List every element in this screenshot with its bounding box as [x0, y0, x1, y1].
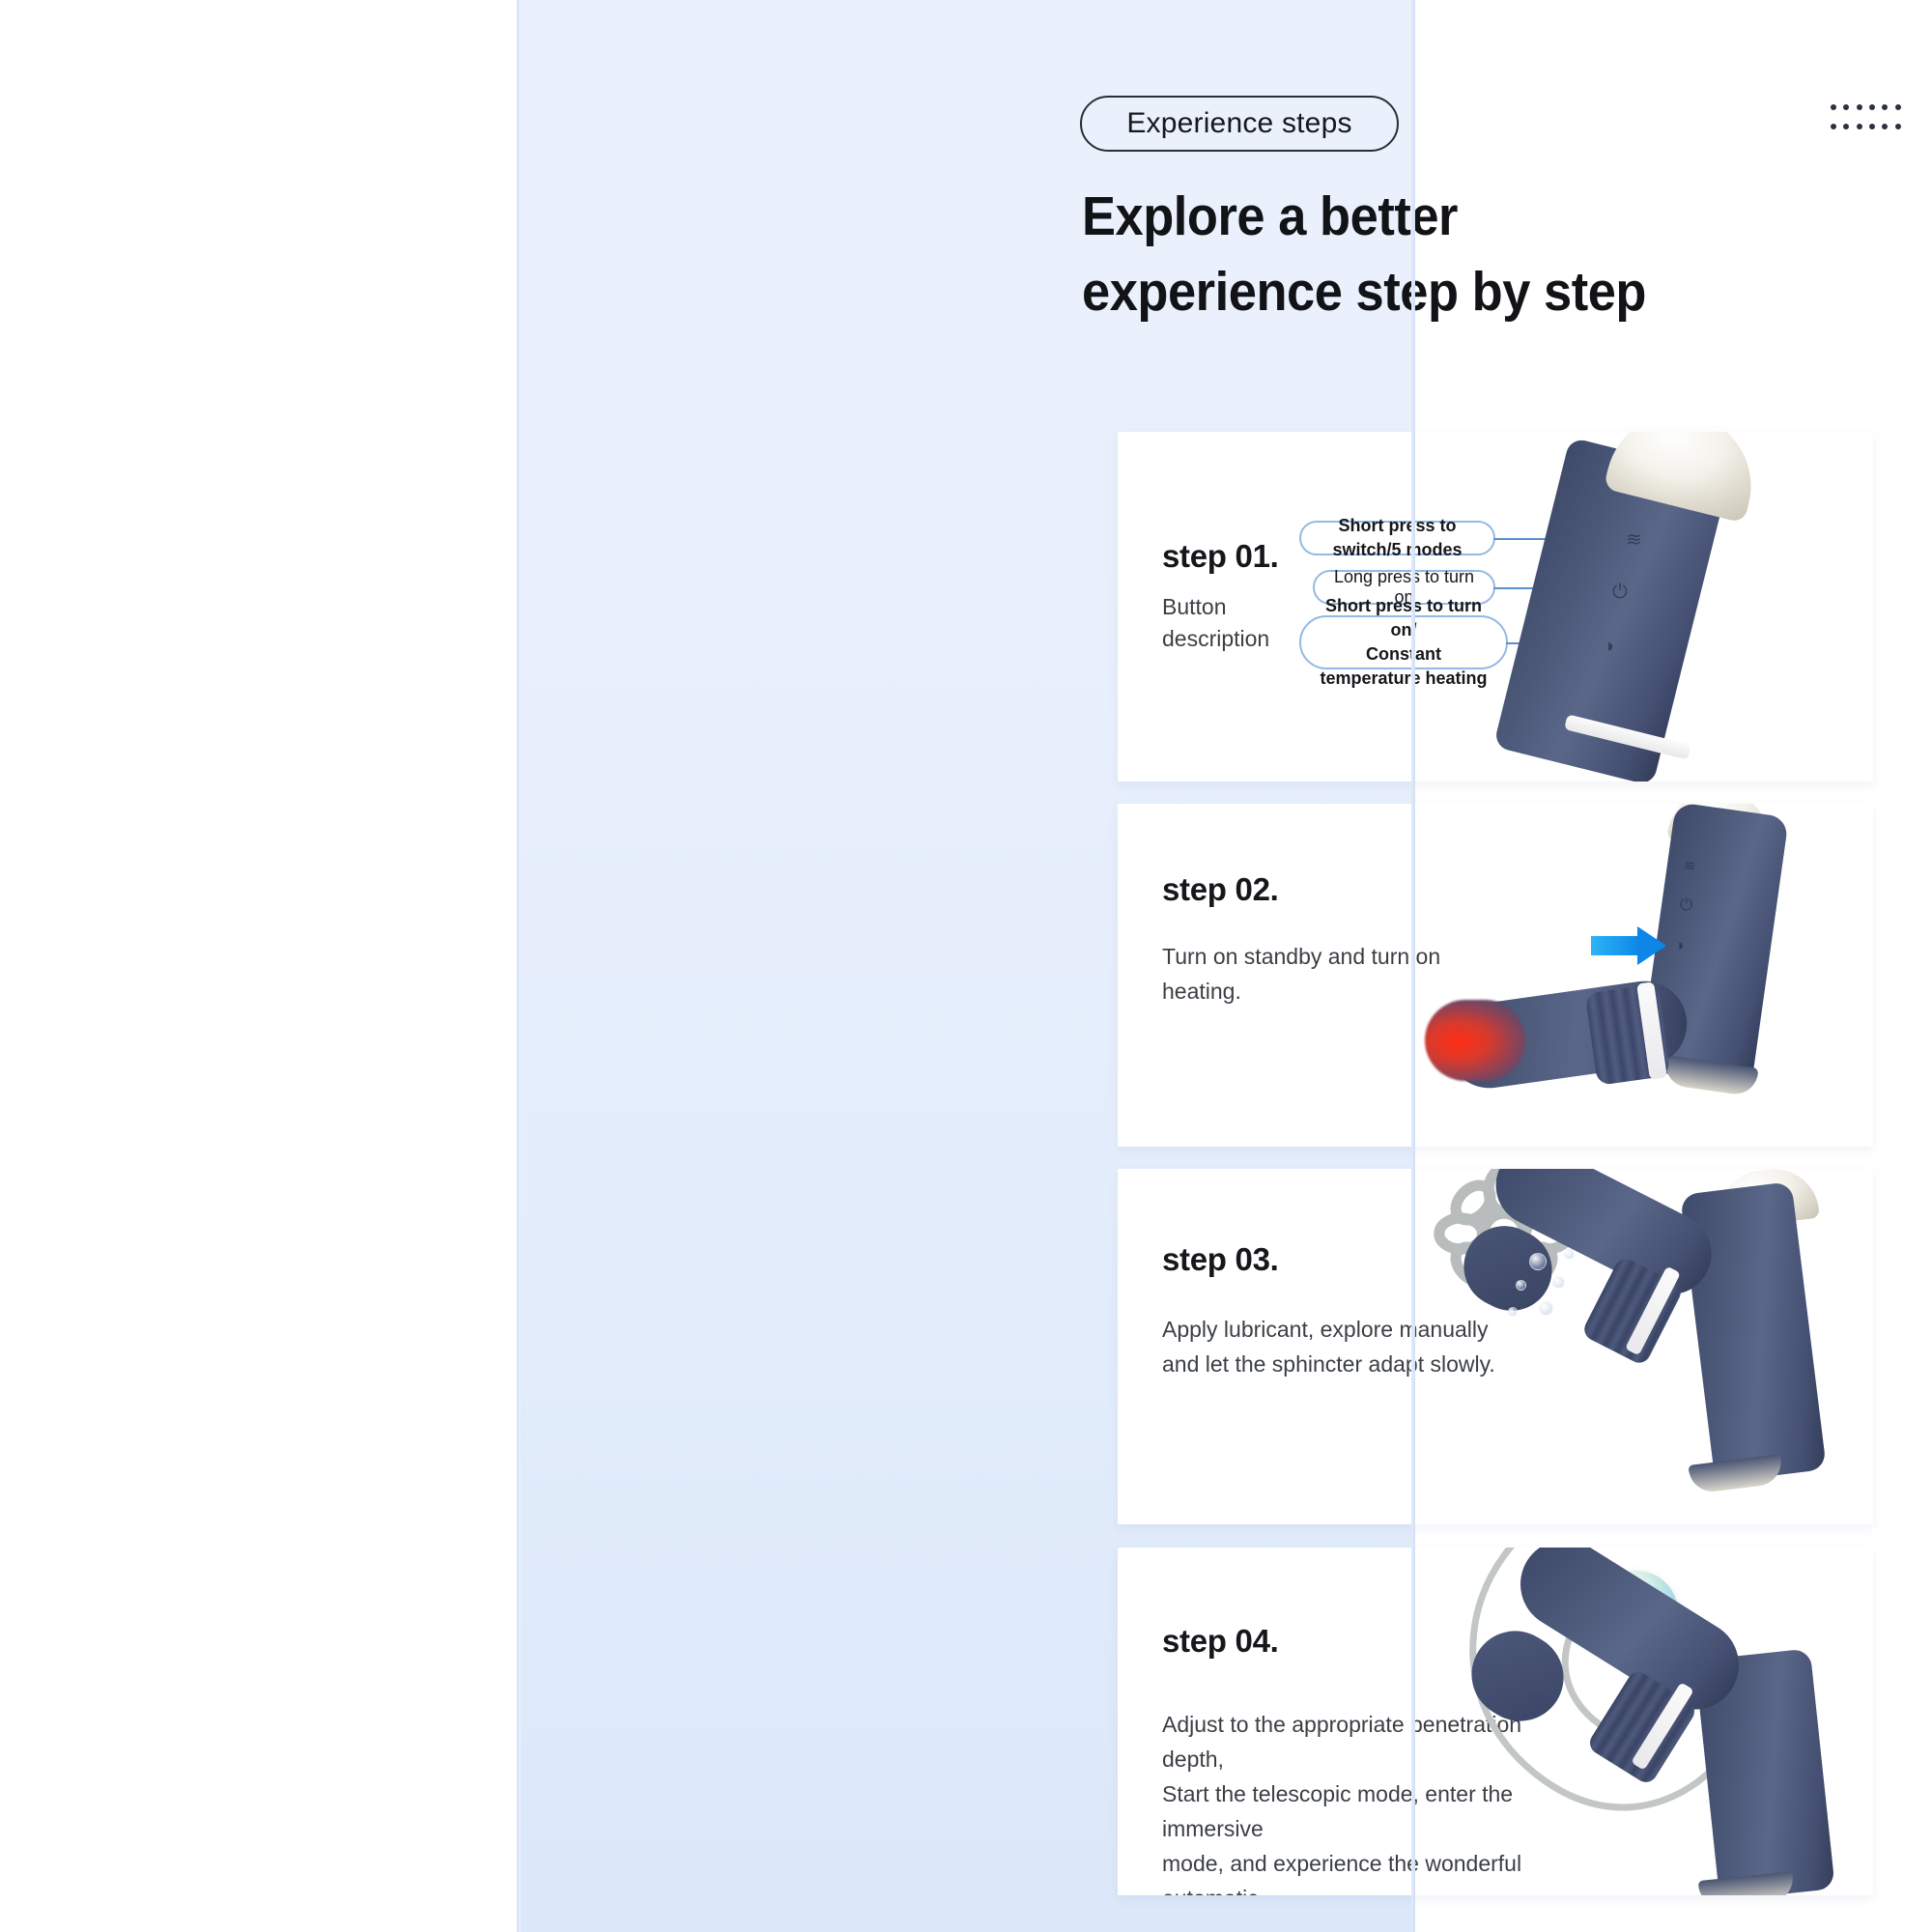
- water-droplet-icon: [1564, 1249, 1575, 1260]
- dot-grid-icon: [1831, 104, 1908, 129]
- step-title: step 04.: [1162, 1623, 1279, 1660]
- step-card-02: step 02. Turn on standby and turn on hea…: [1118, 804, 1873, 1147]
- headline-line-2: experience step by step: [1082, 254, 1793, 329]
- vibration-waves-icon: ≋: [1684, 857, 1696, 876]
- headline-line-1: Explore a better: [1082, 179, 1793, 254]
- experience-steps-badge: Experience steps: [1080, 96, 1399, 152]
- callout-heating: Short press to turn on/ Constant tempera…: [1299, 615, 1508, 669]
- step-subtitle-line-2: description: [1162, 623, 1269, 655]
- power-icon: ⏻: [1680, 895, 1692, 915]
- callout-mode: Short press to switch/5 modes: [1299, 521, 1495, 555]
- step-subtitle: Button description: [1162, 591, 1269, 655]
- water-droplet-icon: [1516, 1280, 1526, 1291]
- product-image-step-04: [1398, 1548, 1852, 1895]
- callout-text-line-2: Constant temperature heating: [1317, 642, 1491, 691]
- badge-label: Experience steps: [1126, 107, 1351, 140]
- water-droplet-icon: [1529, 1253, 1547, 1270]
- step-title: step 01.: [1162, 538, 1279, 575]
- vibration-waves-icon: ≋: [1626, 530, 1642, 550]
- page-left-edge: [517, 0, 521, 1932]
- blue-arrow-icon: [1591, 926, 1668, 965]
- product-image-step-03: [1407, 1169, 1852, 1524]
- step-title: step 02.: [1162, 871, 1279, 908]
- product-image-step-02: ≋ ⏻ ◗: [1407, 804, 1852, 1147]
- step-title: step 03.: [1162, 1241, 1279, 1278]
- step-subtitle-line-1: Button: [1162, 591, 1269, 623]
- water-droplet-icon: [1508, 1307, 1518, 1317]
- product-foot: [1689, 1454, 1784, 1493]
- water-droplet-icon: [1552, 1276, 1565, 1289]
- power-icon: ⏻: [1612, 582, 1628, 602]
- water-droplet-icon: [1539, 1301, 1553, 1316]
- product-detail-page: Experience steps Explore a better experi…: [517, 0, 1415, 1932]
- step-card-03: step 03. Apply lubricant, explore manual…: [1118, 1169, 1873, 1524]
- step-card-04: step 04. Adjust to the appropriate penet…: [1118, 1548, 1873, 1895]
- page-right-edge: [1411, 0, 1415, 1932]
- step-card-01: step 01. Button description Short press …: [1118, 432, 1873, 781]
- product-image-step-01: ≋ ⏻ ◗: [1504, 432, 1852, 781]
- page-title: Explore a better experience step by step: [1082, 179, 1793, 329]
- callout-text: Short press to switch/5 modes: [1317, 514, 1478, 562]
- heat-droplet-icon: ◗: [1605, 637, 1616, 656]
- heat-droplet-icon: ◗: [1676, 936, 1686, 955]
- heated-tip: [1425, 1000, 1525, 1081]
- callout-text-line-1: Short press to turn on/: [1317, 594, 1491, 642]
